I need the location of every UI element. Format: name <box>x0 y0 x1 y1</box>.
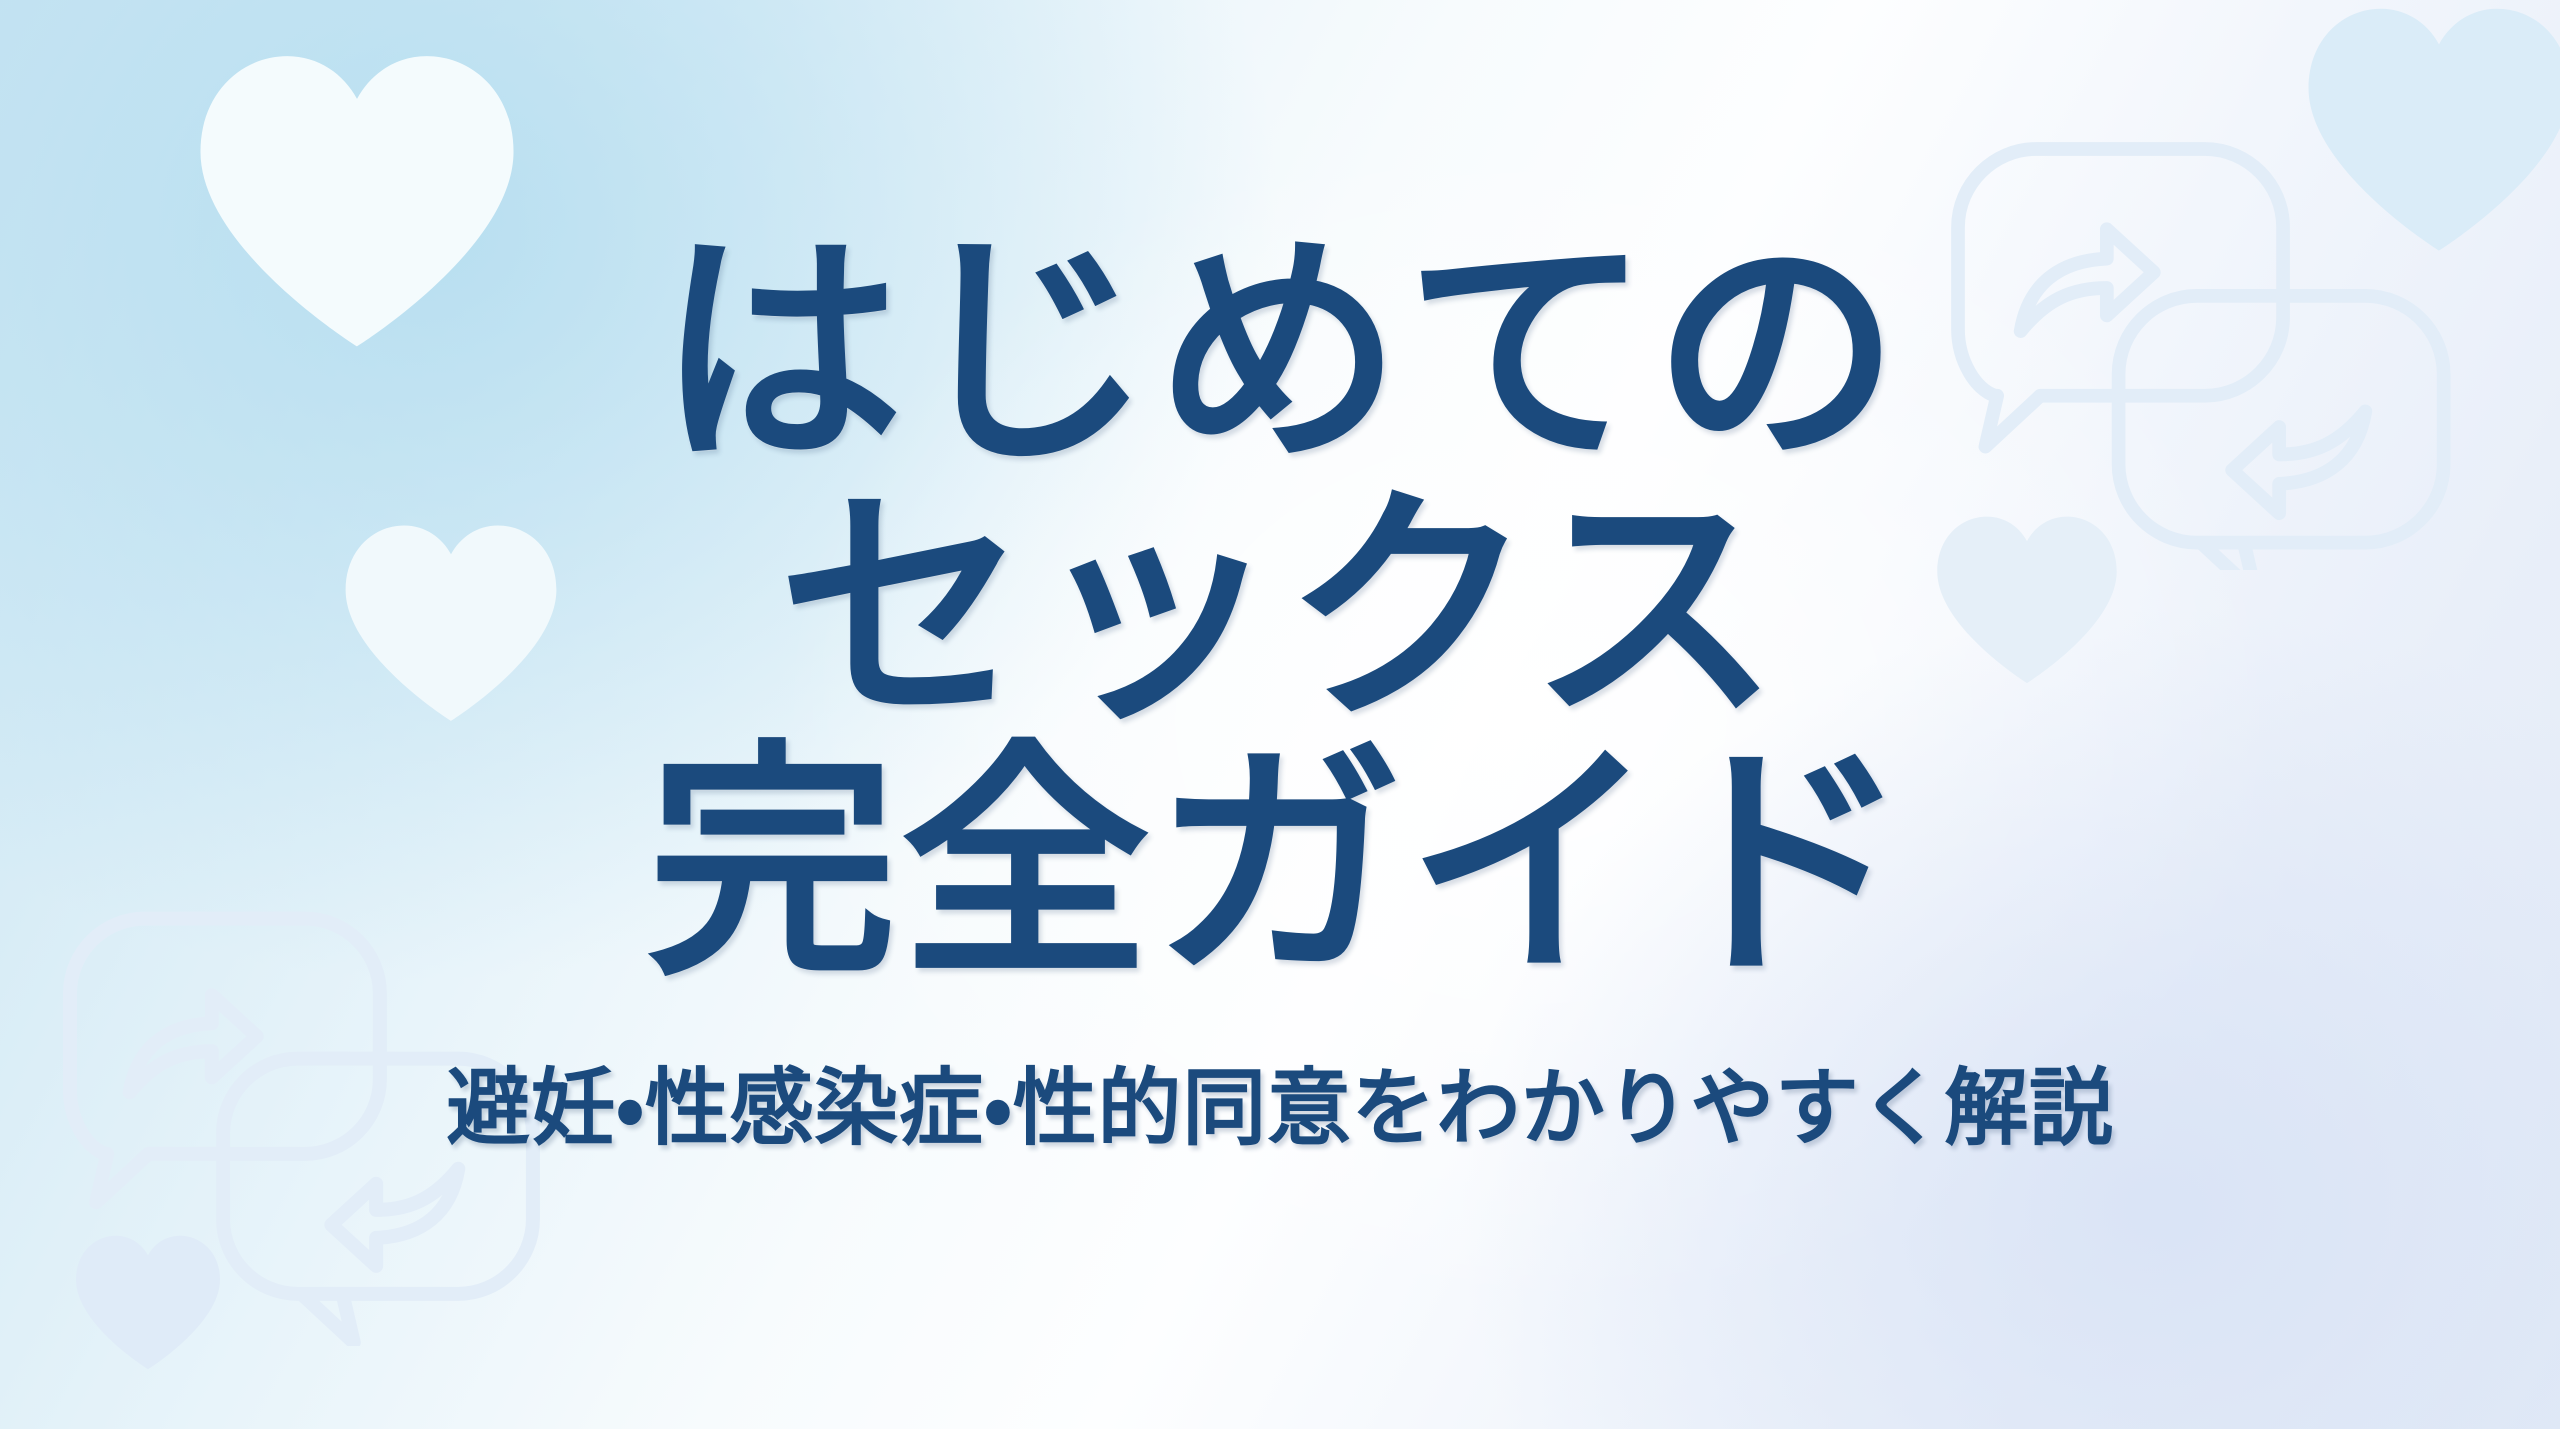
title-line-2: セックス <box>778 487 1783 732</box>
title-block: はじめての セックス 完全ガイド 避妊・性感染症・性的同意をわかりやすく解説 <box>0 0 2560 1429</box>
subtitle: 避妊・性感染症・性的同意をわかりやすく解説 <box>446 1041 2113 1162</box>
title-line-3: 完全ガイド <box>648 742 1913 987</box>
title-line-1: はじめての <box>658 233 1903 474</box>
hero-banner: はじめての セックス 完全ガイド 避妊・性感染症・性的同意をわかりやすく解説 <box>0 0 2560 1429</box>
